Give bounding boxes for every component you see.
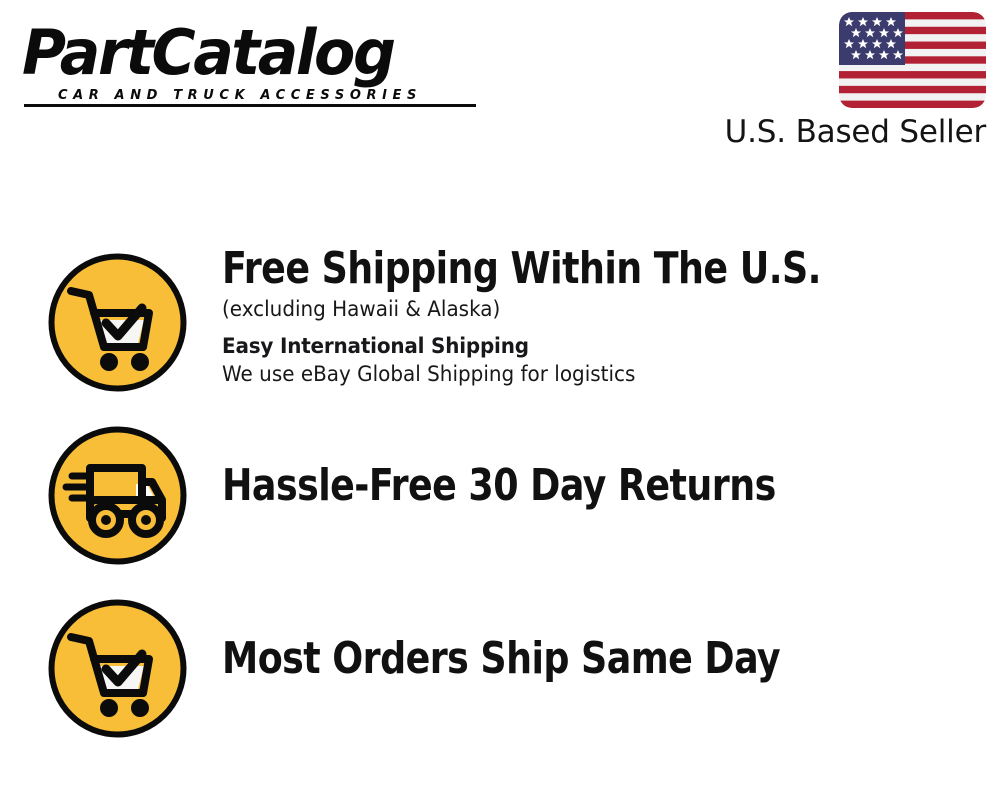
brand-wordmark: PartCatalog	[22, 22, 478, 84]
shopping-cart-check-icon	[46, 597, 189, 740]
brand-logo[interactable]: PartCatalog CAR AND TRUCK ACCESSORIES	[22, 22, 492, 112]
feature-text-block: Free Shipping Within The U.S. (excluding…	[222, 243, 990, 388]
feature-row: Most Orders Ship Same Day	[0, 597, 1000, 740]
shopping-cart-check-icon	[46, 251, 189, 394]
feature-subtext: (excluding Hawaii & Alaska)	[222, 295, 952, 323]
feature-heading: Free Shipping Within The U.S.	[222, 243, 929, 295]
feature-heading: Most Orders Ship Same Day	[222, 633, 929, 685]
feature-text-block: Hassle-Free 30 Day Returns	[222, 460, 990, 512]
feature-heading: Hassle-Free 30 Day Returns	[222, 460, 929, 512]
feature-list: Free Shipping Within The U.S. (excluding…	[0, 251, 1000, 770]
feature-subtext: We use eBay Global Shipping for logistic…	[222, 360, 952, 388]
brand-tagline: CAR AND TRUCK ACCESSORIES	[58, 88, 492, 104]
us-based-seller-label: U.S. Based Seller	[716, 113, 986, 151]
delivery-truck-icon	[46, 424, 189, 567]
us-flag-icon	[839, 12, 986, 108]
logo-underline-rule	[24, 104, 476, 107]
feature-row: Free Shipping Within The U.S. (excluding…	[0, 251, 1000, 394]
feature-text-block: Most Orders Ship Same Day	[222, 633, 990, 685]
feature-subtext-bold: Easy International Shipping	[222, 332, 952, 360]
feature-row: Hassle-Free 30 Day Returns	[0, 424, 1000, 567]
us-based-seller-badge: U.S. Based Seller	[716, 12, 986, 151]
